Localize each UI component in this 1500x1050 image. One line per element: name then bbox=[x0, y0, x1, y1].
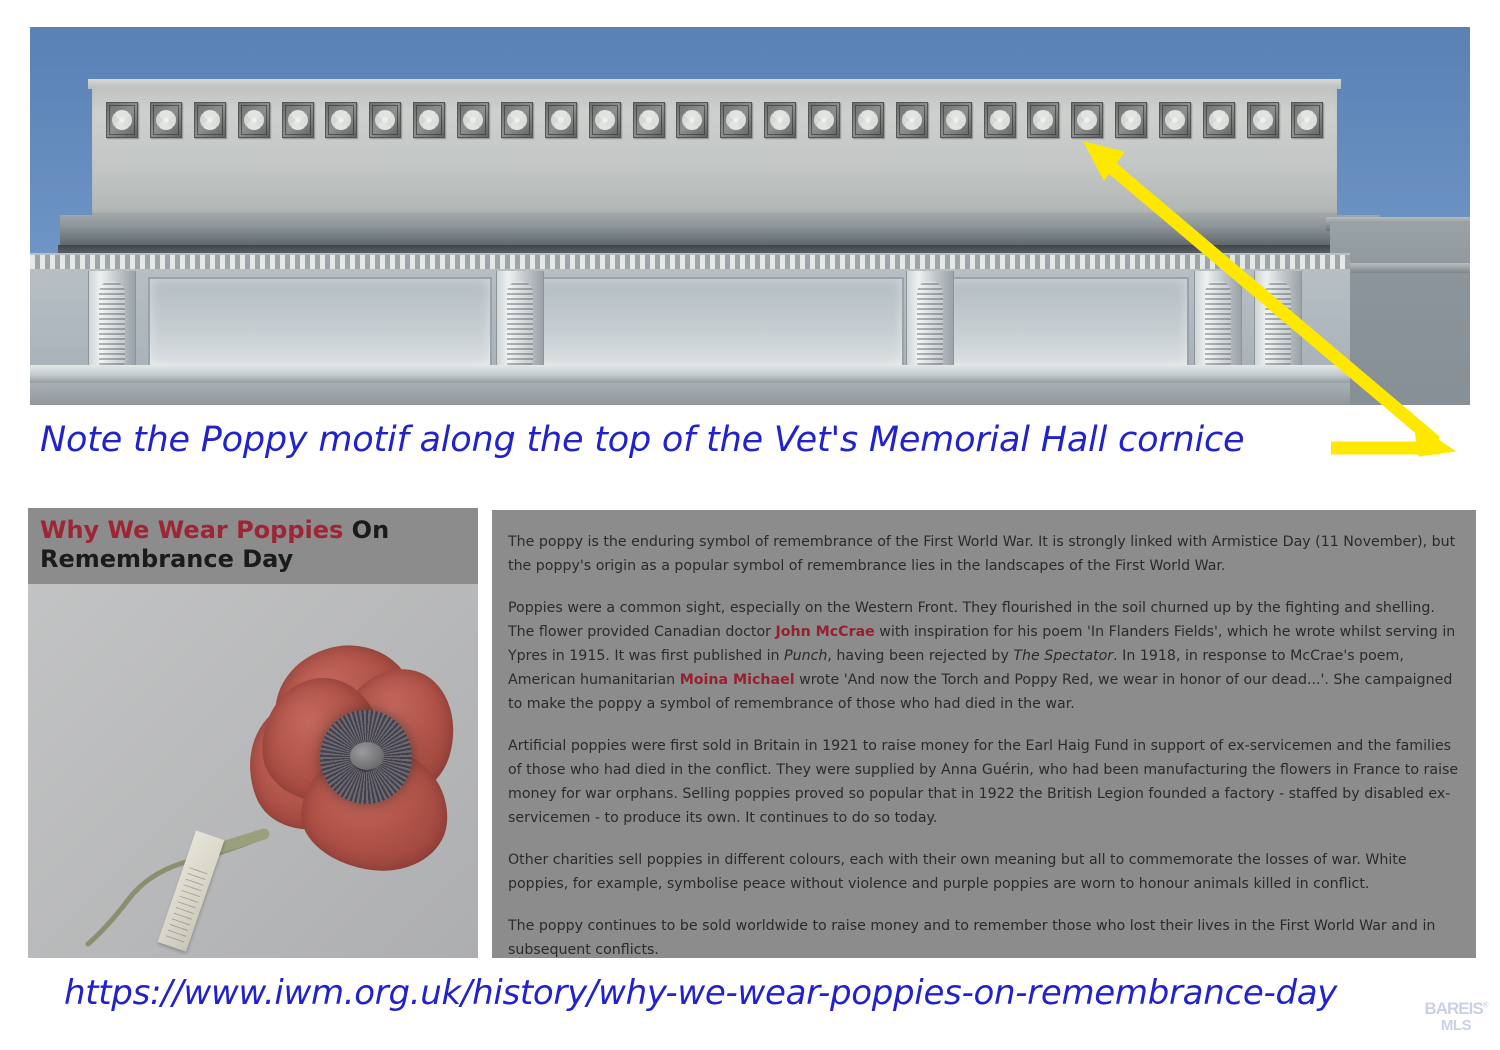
person-name-highlight: Moina Michael bbox=[680, 672, 795, 688]
body-paragraph: Poppies were a common sight, especially … bbox=[508, 596, 1460, 716]
poppy-rosette-icon bbox=[413, 102, 445, 138]
poppy-rosette-icon bbox=[106, 102, 138, 138]
poppy-rosette-icon bbox=[720, 102, 752, 138]
poppy-rosette-icon bbox=[501, 102, 533, 138]
poppy-rosette-icon bbox=[1291, 102, 1323, 138]
poppy-rosette-icon bbox=[545, 102, 577, 138]
watermark-suffix: MLS bbox=[1418, 1018, 1494, 1034]
poppy-rosette-icon bbox=[676, 102, 708, 138]
cornice-photograph bbox=[30, 27, 1470, 405]
poppy-rosette-icon bbox=[589, 102, 621, 138]
body-paragraph: Artificial poppies were first sold in Br… bbox=[508, 734, 1460, 830]
right-parapet-band bbox=[1330, 263, 1470, 273]
article-headline-highlight: Why We Wear Poppies bbox=[40, 516, 343, 544]
dentil-moulding-band bbox=[30, 255, 1350, 269]
poppy-rosette-icon bbox=[150, 102, 182, 138]
poppy-rosette-icon bbox=[984, 102, 1016, 138]
poppy-center-stamens bbox=[320, 710, 412, 804]
poppy-rosette-icon bbox=[940, 102, 972, 138]
poppy-center-boss bbox=[350, 742, 384, 770]
poppy-rosette-icon bbox=[1159, 102, 1191, 138]
publication-title: Punch bbox=[784, 648, 827, 664]
source-url-text[interactable]: https://www.iwm.org.uk/history/why-we-we… bbox=[64, 972, 1337, 1014]
registered-mark-icon: ® bbox=[1483, 1000, 1488, 1009]
cornice-slab bbox=[60, 215, 1380, 249]
article-headline: Why We Wear Poppies On Remembrance Day bbox=[40, 516, 460, 574]
article-body-card[interactable]: The poppy is the enduring symbol of reme… bbox=[492, 510, 1476, 958]
poppy-rosette-icon bbox=[1115, 102, 1147, 138]
poppy-rosette-icon bbox=[1203, 102, 1235, 138]
person-name-highlight: John McCrae bbox=[775, 624, 874, 640]
article-preview-card[interactable]: Why We Wear Poppies On Remembrance Day bbox=[28, 508, 478, 958]
facade-lower-wall bbox=[30, 383, 1350, 405]
poppy-rosette-icon bbox=[369, 102, 401, 138]
article-body-text: The poppy is the enduring symbol of reme… bbox=[508, 530, 1460, 958]
slide-caption: Note the Poppy motif along the top of th… bbox=[40, 418, 1340, 462]
silk-poppy-flower bbox=[246, 644, 454, 874]
poppy-rosette-icon bbox=[808, 102, 840, 138]
right-parapet-block bbox=[1330, 223, 1470, 405]
body-paragraph: The poppy is the enduring symbol of reme… bbox=[508, 530, 1460, 578]
parapet-band-with-poppy-motif bbox=[92, 87, 1337, 217]
bareis-mls-watermark: BAREIS® MLS bbox=[1418, 1000, 1494, 1040]
poppy-rosette-icon bbox=[1247, 102, 1279, 138]
body-paragraph: Other charities sell poppies in differen… bbox=[508, 848, 1460, 896]
watermark-brand: BAREIS® bbox=[1418, 1000, 1494, 1018]
poppy-rosette-row bbox=[100, 99, 1329, 141]
poppy-rosette-icon bbox=[238, 102, 270, 138]
facade-base-band bbox=[30, 365, 1350, 383]
facade-recessed-panel bbox=[530, 277, 904, 367]
facade-recessed-panel bbox=[148, 277, 492, 367]
publication-title: The Spectator bbox=[1013, 648, 1113, 664]
body-paragraph: The poppy continues to be sold worldwide… bbox=[508, 914, 1460, 958]
poppy-rosette-icon bbox=[282, 102, 314, 138]
poppy-rosette-icon bbox=[896, 102, 928, 138]
poppy-rosette-icon bbox=[1027, 102, 1059, 138]
poppy-rosette-icon bbox=[325, 102, 357, 138]
poppy-rosette-icon bbox=[457, 102, 489, 138]
poppy-photograph bbox=[28, 584, 478, 958]
poppy-rosette-icon bbox=[852, 102, 884, 138]
poppy-rosette-icon bbox=[764, 102, 796, 138]
facade-recessed-panel bbox=[945, 277, 1189, 367]
poppy-rosette-icon bbox=[1071, 102, 1103, 138]
poppy-rosette-icon bbox=[194, 102, 226, 138]
poppy-rosette-icon bbox=[633, 102, 665, 138]
